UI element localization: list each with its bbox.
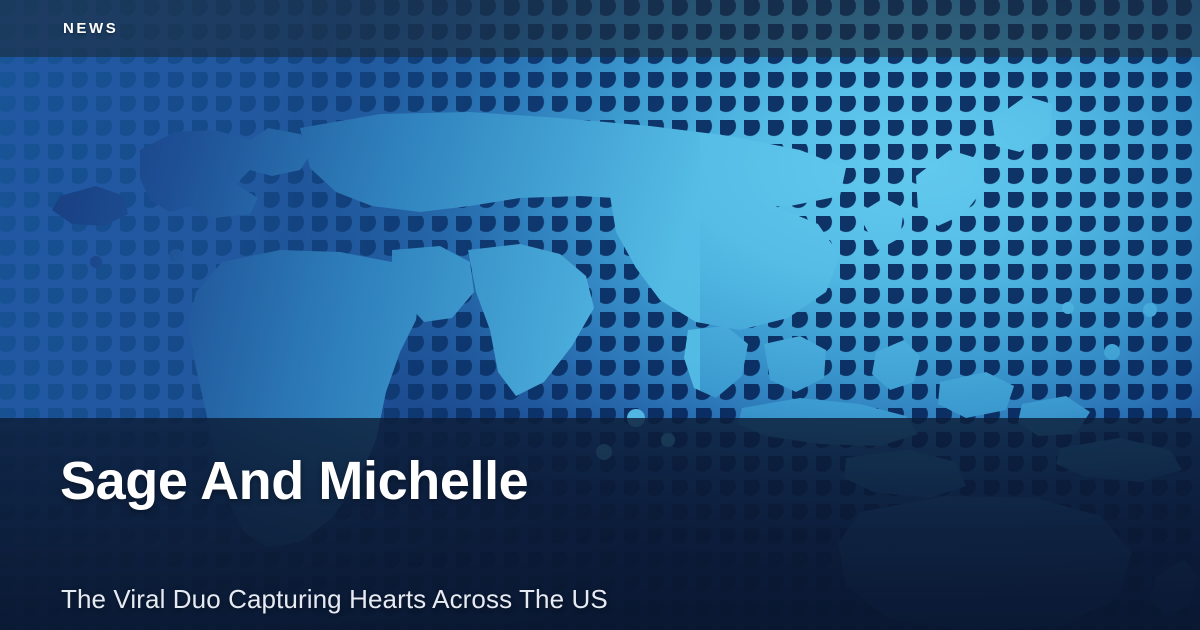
news-social-card: NEWS Sage And Michelle The Viral Duo Cap… — [0, 0, 1200, 630]
category-kicker: NEWS — [63, 20, 118, 38]
top-banner-strip — [0, 0, 1200, 57]
subheadline-text: The Viral Duo Capturing Hearts Across Th… — [61, 583, 961, 615]
headline-title: Sage And Michelle — [60, 452, 820, 511]
